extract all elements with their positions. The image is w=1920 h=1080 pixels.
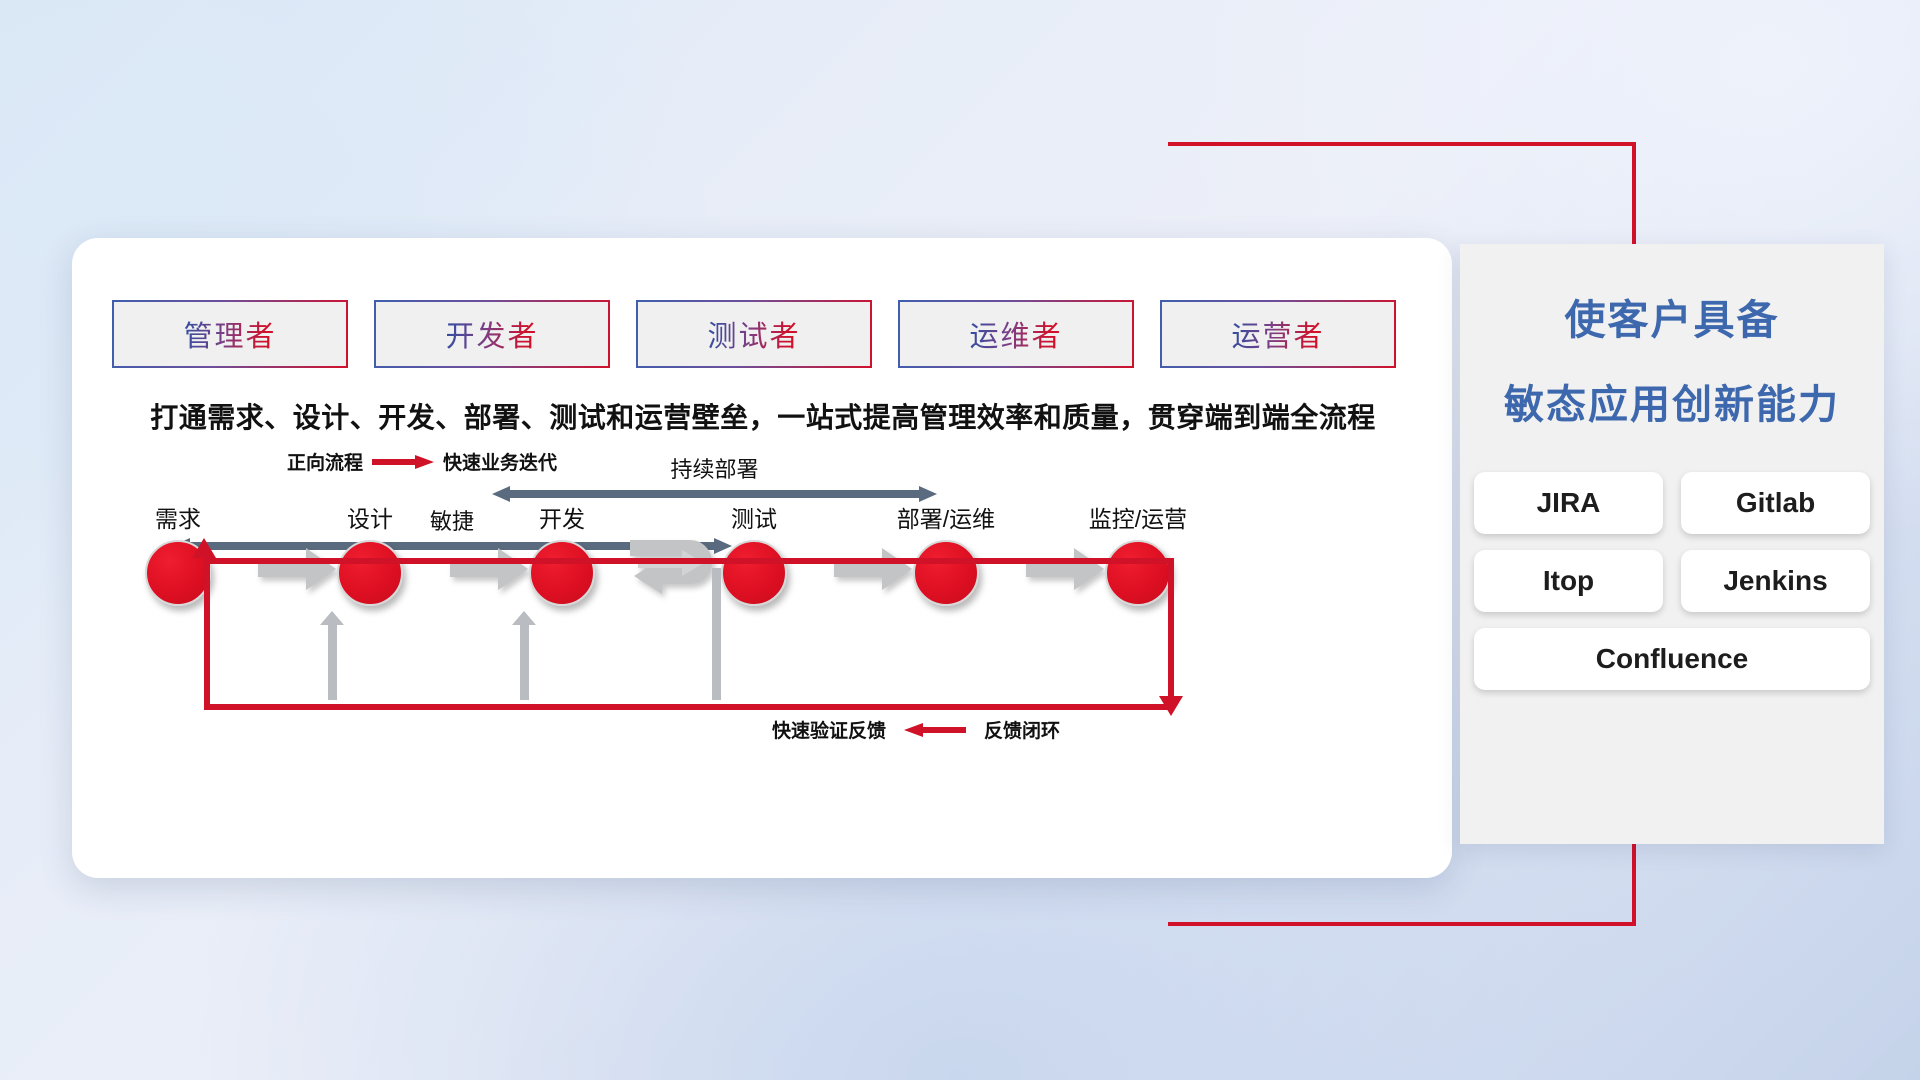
riser-connector xyxy=(520,624,529,700)
feedback-from-label: 快速验证反馈 xyxy=(772,716,886,743)
role-chip-label: 测试者 xyxy=(707,313,800,355)
tool-badge-confluence[interactable]: Confluence xyxy=(1474,628,1870,690)
forward-flow-from-label: 正向流程 xyxy=(287,448,363,475)
role-chip-label: 开发者 xyxy=(445,313,538,355)
red-left-arrow-icon xyxy=(904,723,966,736)
role-chip[interactable]: 运营者 xyxy=(1160,300,1396,368)
capability-panel: 使客户具备 敏态应用创新能力 JIRA Gitlab Itop Jenkins … xyxy=(1460,244,1884,844)
riser-connector xyxy=(712,568,721,700)
feedback-to-label: 反馈闭环 xyxy=(984,716,1060,743)
headline-text: 打通需求、设计、开发、部署、测试和运营壁垒，一站式提高管理效率和质量，贯穿端到端… xyxy=(108,396,1418,436)
role-chip-label: 运维者 xyxy=(969,313,1062,355)
loop-arrow-up-icon xyxy=(192,538,216,558)
panel-title-line1: 使客户具备 xyxy=(1460,286,1884,346)
feedback-loop-legend: 快速验证反馈 反馈闭环 xyxy=(772,716,1060,743)
role-chip-row: 管理者 开发者 测试者 运维者 运营者 xyxy=(112,300,1396,368)
panel-title-line2: 敏态应用创新能力 xyxy=(1460,372,1884,430)
tool-badge-jira[interactable]: JIRA xyxy=(1474,472,1663,534)
continuous-deployment-label: 持续部署 xyxy=(492,452,937,484)
loop-arrow-down-icon xyxy=(1159,696,1183,716)
tool-badge-itop[interactable]: Itop xyxy=(1474,550,1663,612)
pipeline-node-label: 需求 xyxy=(118,500,238,534)
red-right-arrow-icon xyxy=(372,455,434,468)
tool-badge-gitlab[interactable]: Gitlab xyxy=(1681,472,1870,534)
pipeline-node-label: 开发 xyxy=(502,500,622,534)
closed-loop-path xyxy=(204,558,1174,710)
tool-badge-grid: JIRA Gitlab Itop Jenkins Confluence xyxy=(1474,472,1870,690)
role-chip[interactable]: 管理者 xyxy=(112,300,348,368)
devops-overview-card: 管理者 开发者 测试者 运维者 运营者 打通需求、设计、开发、部署、测试和运营壁… xyxy=(72,238,1452,878)
role-chip[interactable]: 运维者 xyxy=(898,300,1134,368)
pipeline-node-label: 测试 xyxy=(694,500,814,534)
pipeline-node-label: 设计 xyxy=(310,500,430,534)
tool-badge-jenkins[interactable]: Jenkins xyxy=(1681,550,1870,612)
role-chip[interactable]: 开发者 xyxy=(374,300,610,368)
role-chip-label: 运营者 xyxy=(1231,313,1324,355)
role-chip-label: 管理者 xyxy=(183,313,276,355)
pipeline-node-label: 部署/运维 xyxy=(886,500,1006,534)
pipeline-node-label: 监控/运营 xyxy=(1078,500,1198,534)
riser-connector xyxy=(328,624,337,700)
role-chip[interactable]: 测试者 xyxy=(636,300,872,368)
